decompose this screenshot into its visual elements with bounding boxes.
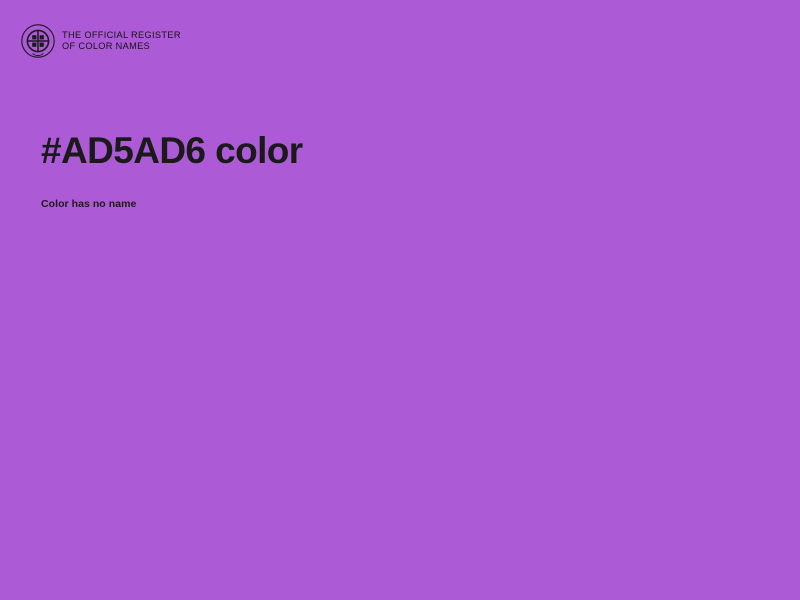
brand-lockup[interactable]: THE OFFICIAL REGISTER OF COLOR NAMES xyxy=(20,23,181,59)
register-seal-icon xyxy=(20,23,56,59)
page-title: #AD5AD6 color xyxy=(41,130,303,172)
color-swatch-page: THE OFFICIAL REGISTER OF COLOR NAMES #AD… xyxy=(0,0,800,600)
brand-line-1: THE OFFICIAL REGISTER xyxy=(62,30,181,41)
brand-wordmark: THE OFFICIAL REGISTER OF COLOR NAMES xyxy=(62,30,181,52)
brand-line-2: OF COLOR NAMES xyxy=(62,41,181,52)
color-name-status: Color has no name xyxy=(41,198,136,210)
